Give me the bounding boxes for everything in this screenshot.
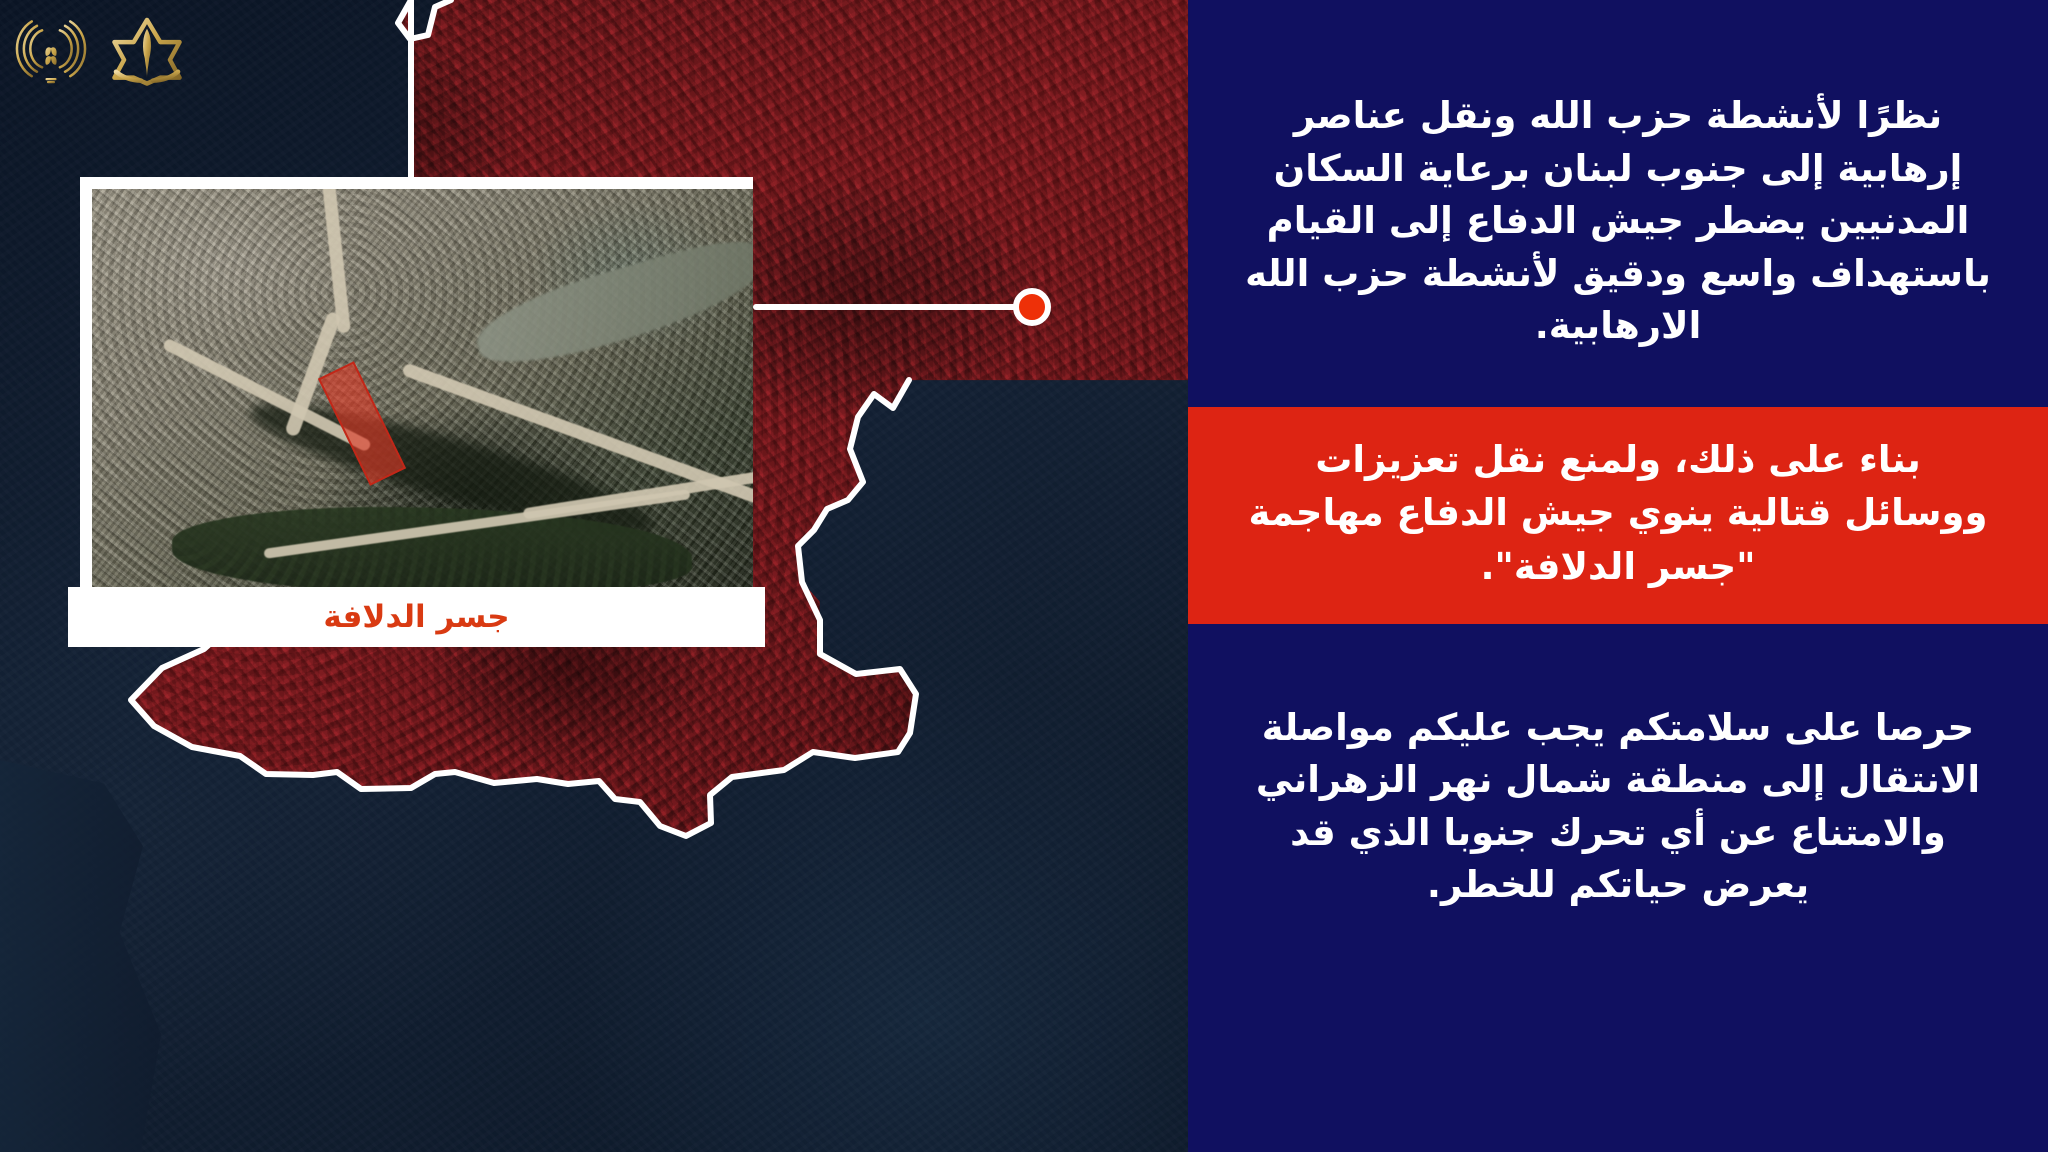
warning-graphic: جسر الدلافة [0, 0, 2048, 1152]
inset-photo-frame [80, 177, 753, 587]
paragraph-safety-instruction: حرصا على سلامتكم يجب عليكم مواصلة الانتق… [1232, 702, 2004, 912]
broadcast-antenna-emblem [14, 14, 88, 88]
paragraph-reason: نظرًا لأنشطة حزب الله ونقل عناصر إرهابية… [1232, 90, 2004, 353]
target-marker[interactable] [1013, 288, 1051, 326]
leader-line [753, 304, 1023, 310]
text-panel: نظرًا لأنشطة حزب الله ونقل عناصر إرهابية… [1188, 0, 2048, 1152]
inset-caption: جسر الدلافة [68, 587, 765, 647]
emblem-group [14, 14, 184, 88]
inset-caption-label: جسر الدلافة [323, 599, 509, 635]
highlight-warning-box: بناء على ذلك، ولمنع نقل تعزيزات ووسائل ق… [1188, 407, 2048, 624]
map-pane: جسر الدلافة [0, 0, 1188, 1152]
idf-star-emblem [110, 14, 184, 88]
aerial-satellite-photo [92, 189, 753, 587]
